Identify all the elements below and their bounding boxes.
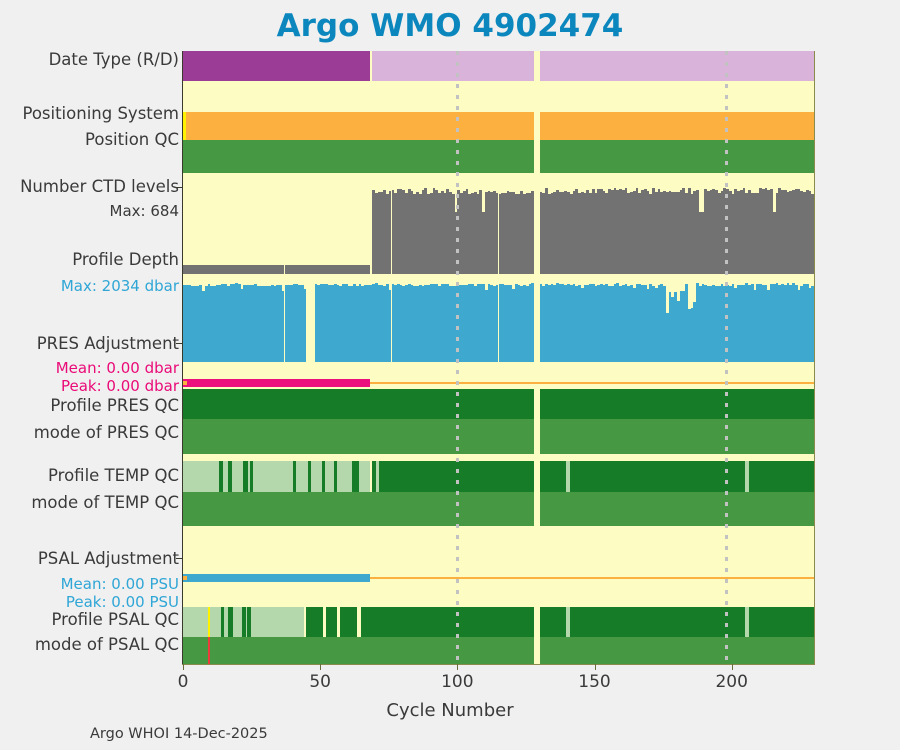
segment-mode-of-temp-qc — [540, 492, 814, 526]
axis-tick-pres-zero — [176, 343, 183, 344]
line-psal-adjustment — [370, 577, 814, 579]
bar-number-ctd-levels — [367, 265, 370, 274]
label-psal-adjustment-peak: Peak: 0.00 PSU — [66, 593, 179, 611]
label-mode-temp-qc: mode of TEMP QC — [31, 493, 179, 512]
missing-cycle-gap-profile-depth — [537, 282, 540, 362]
missing-cycle-gap-positioning-system — [537, 112, 540, 140]
label-profile-depth-max: Max: 2034 dbar — [61, 277, 179, 295]
axis-tick-psal-zero — [176, 558, 183, 559]
page-title: Argo WMO 4902474 — [0, 8, 900, 44]
x-tick-label-0: 0 — [153, 672, 213, 692]
qc-stripe-profile-psal-qc-c — [745, 607, 748, 637]
line-origin-marker-pres-adjustment — [183, 381, 187, 385]
qc-stripe-profile-temp-qc-1 — [228, 461, 231, 492]
argo-timeline-plot — [183, 51, 814, 664]
missing-cycle-gap-mode-of-temp-qc — [537, 492, 540, 526]
segment-mode-of-pres-qc — [540, 419, 814, 454]
line-origin-marker-psal-adjustment — [183, 576, 187, 580]
line-pres-adjustment — [183, 379, 370, 387]
missing-cycle-gap-date-type-r-d — [537, 51, 540, 81]
bar-profile-depth — [811, 286, 814, 362]
label-profile-psal-qc: Profile PSAL QC — [51, 610, 179, 629]
missing-cycle-gap-position-qc — [537, 140, 540, 173]
segment-positioning-system — [540, 112, 814, 140]
segment-date-type-r-d — [183, 51, 370, 81]
plot-axis-bottom — [182, 664, 815, 665]
label-date-type: Date Type (R/D) — [49, 50, 179, 69]
qc-stripe-profile-temp-qc-8 — [352, 461, 359, 492]
missing-cycle-gap-profile-temp-qc — [537, 461, 540, 492]
segment-profile-temp-qc — [183, 461, 370, 492]
label-psal-adjustment-mean: Mean: 0.00 PSU — [61, 575, 179, 593]
plot-border-right — [814, 51, 815, 665]
qc-stripe-profile-temp-qc-4 — [293, 461, 297, 492]
segment-mode-of-psal-qc — [540, 637, 814, 664]
qc-gap-profile-psal-qc-0 — [323, 607, 326, 637]
missing-cycle-gap-mode-of-pres-qc — [537, 419, 540, 454]
segment-profile-psal-qc — [306, 607, 534, 637]
missing-cycle-gap-profile-pres-qc — [537, 389, 540, 419]
missing-cycle-gap-profile-psal-qc — [537, 607, 540, 637]
bar-profile-depth — [304, 289, 307, 362]
segment-mode-of-pres-qc — [183, 419, 534, 454]
qc-stripe-profile-temp-qc-2 — [243, 461, 247, 492]
x-tick-label-200: 200 — [702, 672, 762, 692]
axis-tick-ctd-max — [176, 187, 183, 188]
bar-profile-depth — [531, 283, 534, 362]
x-tick-label-50: 50 — [290, 672, 350, 692]
qc-stripe-profile-temp-qc-b — [566, 461, 571, 492]
x-tick-label-150: 150 — [565, 672, 625, 692]
qc-stripe-profile-psal-qc-b — [566, 607, 571, 637]
label-mode-psal-qc: mode of PSAL QC — [35, 635, 179, 654]
qc-stripe-profile-temp-qc-7 — [334, 461, 338, 492]
segment-mode-of-temp-qc — [183, 492, 534, 526]
segment-profile-temp-qc — [540, 461, 814, 492]
segment-profile-temp-qc — [372, 461, 534, 492]
x-tick-150 — [595, 664, 596, 670]
x-tick-50 — [320, 664, 321, 670]
missing-cycle-gap-mode-of-psal-qc — [537, 637, 540, 664]
line-pres-adjustment — [370, 382, 814, 384]
label-mode-pres-qc: mode of PRES QC — [34, 423, 179, 442]
x-tick-200 — [732, 664, 733, 670]
x-tick-label-100: 100 — [427, 672, 487, 692]
qc-stripe-mode-of-psal-qc-red — [208, 637, 211, 664]
segment-profile-pres-qc — [183, 389, 534, 419]
segment-position-qc — [183, 140, 534, 173]
missing-cycle-gap-number-ctd-levels — [537, 184, 540, 274]
label-profile-temp-qc: Profile TEMP QC — [48, 466, 179, 485]
label-pres-adjustment-peak: Peak: 0.00 dbar — [61, 377, 179, 395]
qc-stripe-profile-temp-qc-0 — [219, 461, 222, 492]
qc-stripe-profile-temp-qc-6 — [322, 461, 326, 492]
segment-profile-psal-qc — [540, 607, 814, 637]
label-psal-adjustment: PSAL Adjustment — [38, 549, 179, 568]
bar-number-ctd-levels — [531, 191, 534, 274]
label-pres-adjustment: PRES Adjustment — [37, 334, 179, 353]
label-profile-pres-qc: Profile PRES QC — [50, 396, 179, 415]
qc-stripe-profile-psal-qc-3 — [247, 607, 251, 637]
bar-number-ctd-levels — [811, 194, 814, 274]
label-number-ctd-levels: Number CTD levels — [20, 177, 179, 196]
qc-stripe-profile-psal-qc-1 — [228, 607, 233, 637]
gridline-cycle-198 — [725, 51, 728, 664]
gridline-cycle-100 — [456, 51, 459, 664]
x-axis-title: Cycle Number — [0, 700, 900, 721]
label-pres-adjustment-mean: Mean: 0.00 dbar — [56, 359, 179, 377]
qc-stripe-profile-psal-qc-yellow — [208, 607, 211, 637]
qc-stripe-profile-psal-qc-0 — [221, 607, 224, 637]
qc-stripe-profile-temp-qc-a — [376, 461, 379, 492]
qc-gap-profile-psal-qc-1 — [337, 607, 340, 637]
segment-date-type-r-d — [540, 51, 814, 81]
label-number-ctd-levels-max: Max: 684 — [110, 202, 179, 220]
segment-profile-pres-qc — [540, 389, 814, 419]
qc-gap-profile-psal-qc-2 — [357, 607, 361, 637]
label-positioning-system: Positioning System — [22, 104, 179, 123]
qc-stripe-profile-psal-qc-2 — [242, 607, 246, 637]
footer-credit: Argo WHOI 14-Dec-2025 — [90, 726, 268, 742]
segment-positioning-system — [186, 112, 534, 140]
line-psal-adjustment — [183, 574, 370, 582]
x-tick-100 — [457, 664, 458, 670]
segment-mode-of-psal-qc — [183, 637, 534, 664]
x-tick-0 — [183, 664, 184, 670]
segment-position-qc — [540, 140, 814, 173]
segment-date-type-r-d — [372, 51, 534, 81]
qc-stripe-profile-temp-qc-c — [745, 461, 748, 492]
qc-stripe-profile-temp-qc-3 — [250, 461, 253, 492]
qc-stripe-profile-temp-qc-5 — [308, 461, 312, 492]
label-position-qc: Position QC — [85, 130, 179, 149]
label-profile-depth: Profile Depth — [72, 250, 179, 269]
